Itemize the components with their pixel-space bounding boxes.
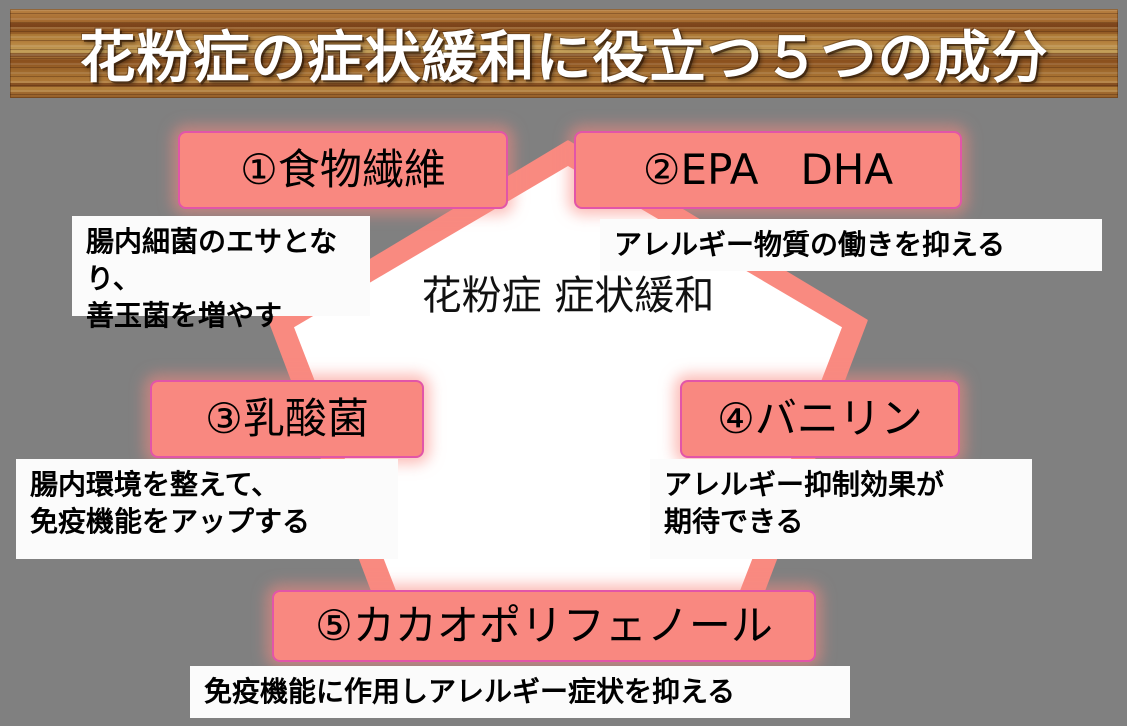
node-description-3: 腸内環境を整えて、 免疫機能をアップする	[16, 459, 398, 559]
infographic-canvas: 花粉症の症状緩和に役立つ５つの成分 花粉症 症状緩和 ①食物繊維 ②EPA DH…	[0, 0, 1127, 726]
node-description-5: 免疫機能に作用しアレルギー症状を抑える	[190, 666, 850, 718]
node-label-3[interactable]: ③乳酸菌	[150, 380, 424, 458]
node-label-5-text: ⑤カカオポリフェノール	[315, 605, 773, 647]
node-label-5[interactable]: ⑤カカオポリフェノール	[272, 590, 816, 662]
node-label-3-text: ③乳酸菌	[205, 398, 369, 440]
node-label-2[interactable]: ②EPA DHA	[574, 131, 962, 209]
node-description-2: アレルギー物質の働きを抑える	[600, 219, 1102, 271]
node-label-4-text: ④バニリン	[717, 398, 923, 440]
title-banner: 花粉症の症状緩和に役立つ５つの成分	[10, 9, 1118, 98]
page-title: 花粉症の症状緩和に役立つ５つの成分	[10, 9, 1118, 98]
node-description-1: 腸内細菌のエサとなり、 善玉菌を増やす	[72, 216, 370, 316]
node-label-1[interactable]: ①食物繊維	[178, 131, 508, 209]
node-label-4[interactable]: ④バニリン	[680, 380, 960, 458]
node-label-1-text: ①食物繊維	[240, 149, 446, 191]
node-label-2-text: ②EPA DHA	[643, 149, 893, 191]
node-description-4: アレルギー抑制効果が 期待できる	[650, 459, 1032, 559]
